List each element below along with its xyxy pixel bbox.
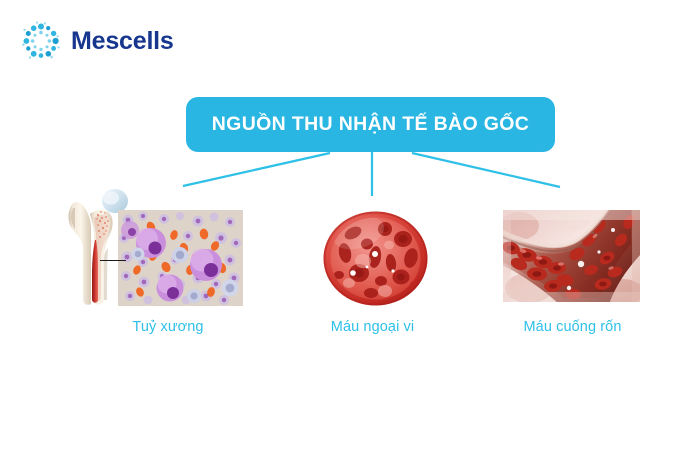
- blood-vessel-photo: [503, 210, 640, 302]
- cord-blood-illustration: [495, 188, 650, 306]
- marrow-pointer-line: [100, 260, 126, 261]
- source-column-peripheral-blood: Máu ngoại vi: [300, 188, 445, 336]
- brand-name: Mescells: [71, 29, 174, 54]
- caption-bone-marrow: Tuỷ xương: [132, 319, 203, 335]
- caption-cord-blood: Máu cuống rốn: [523, 319, 621, 335]
- caption-peripheral-blood: Máu ngoại vi: [331, 319, 414, 335]
- blood-drop-icon: [323, 211, 428, 306]
- page-title: NGUỒN THU NHẬN TẾ BÀO GỐC: [212, 113, 530, 136]
- peripheral-blood-illustration: [300, 188, 445, 306]
- marrow-cells-panel: [118, 210, 243, 306]
- cell-cluster-ring-icon: [20, 20, 62, 62]
- source-column-cord-blood: Máu cuống rốn: [495, 188, 650, 336]
- bone-marrow-illustration: [58, 188, 278, 306]
- diagram-header-box: NGUỒN THU NHẬN TẾ BÀO GỐC: [186, 97, 555, 152]
- source-column-bone-marrow: Tuỷ xương: [58, 188, 278, 336]
- brand-logo: Mescells: [20, 20, 174, 62]
